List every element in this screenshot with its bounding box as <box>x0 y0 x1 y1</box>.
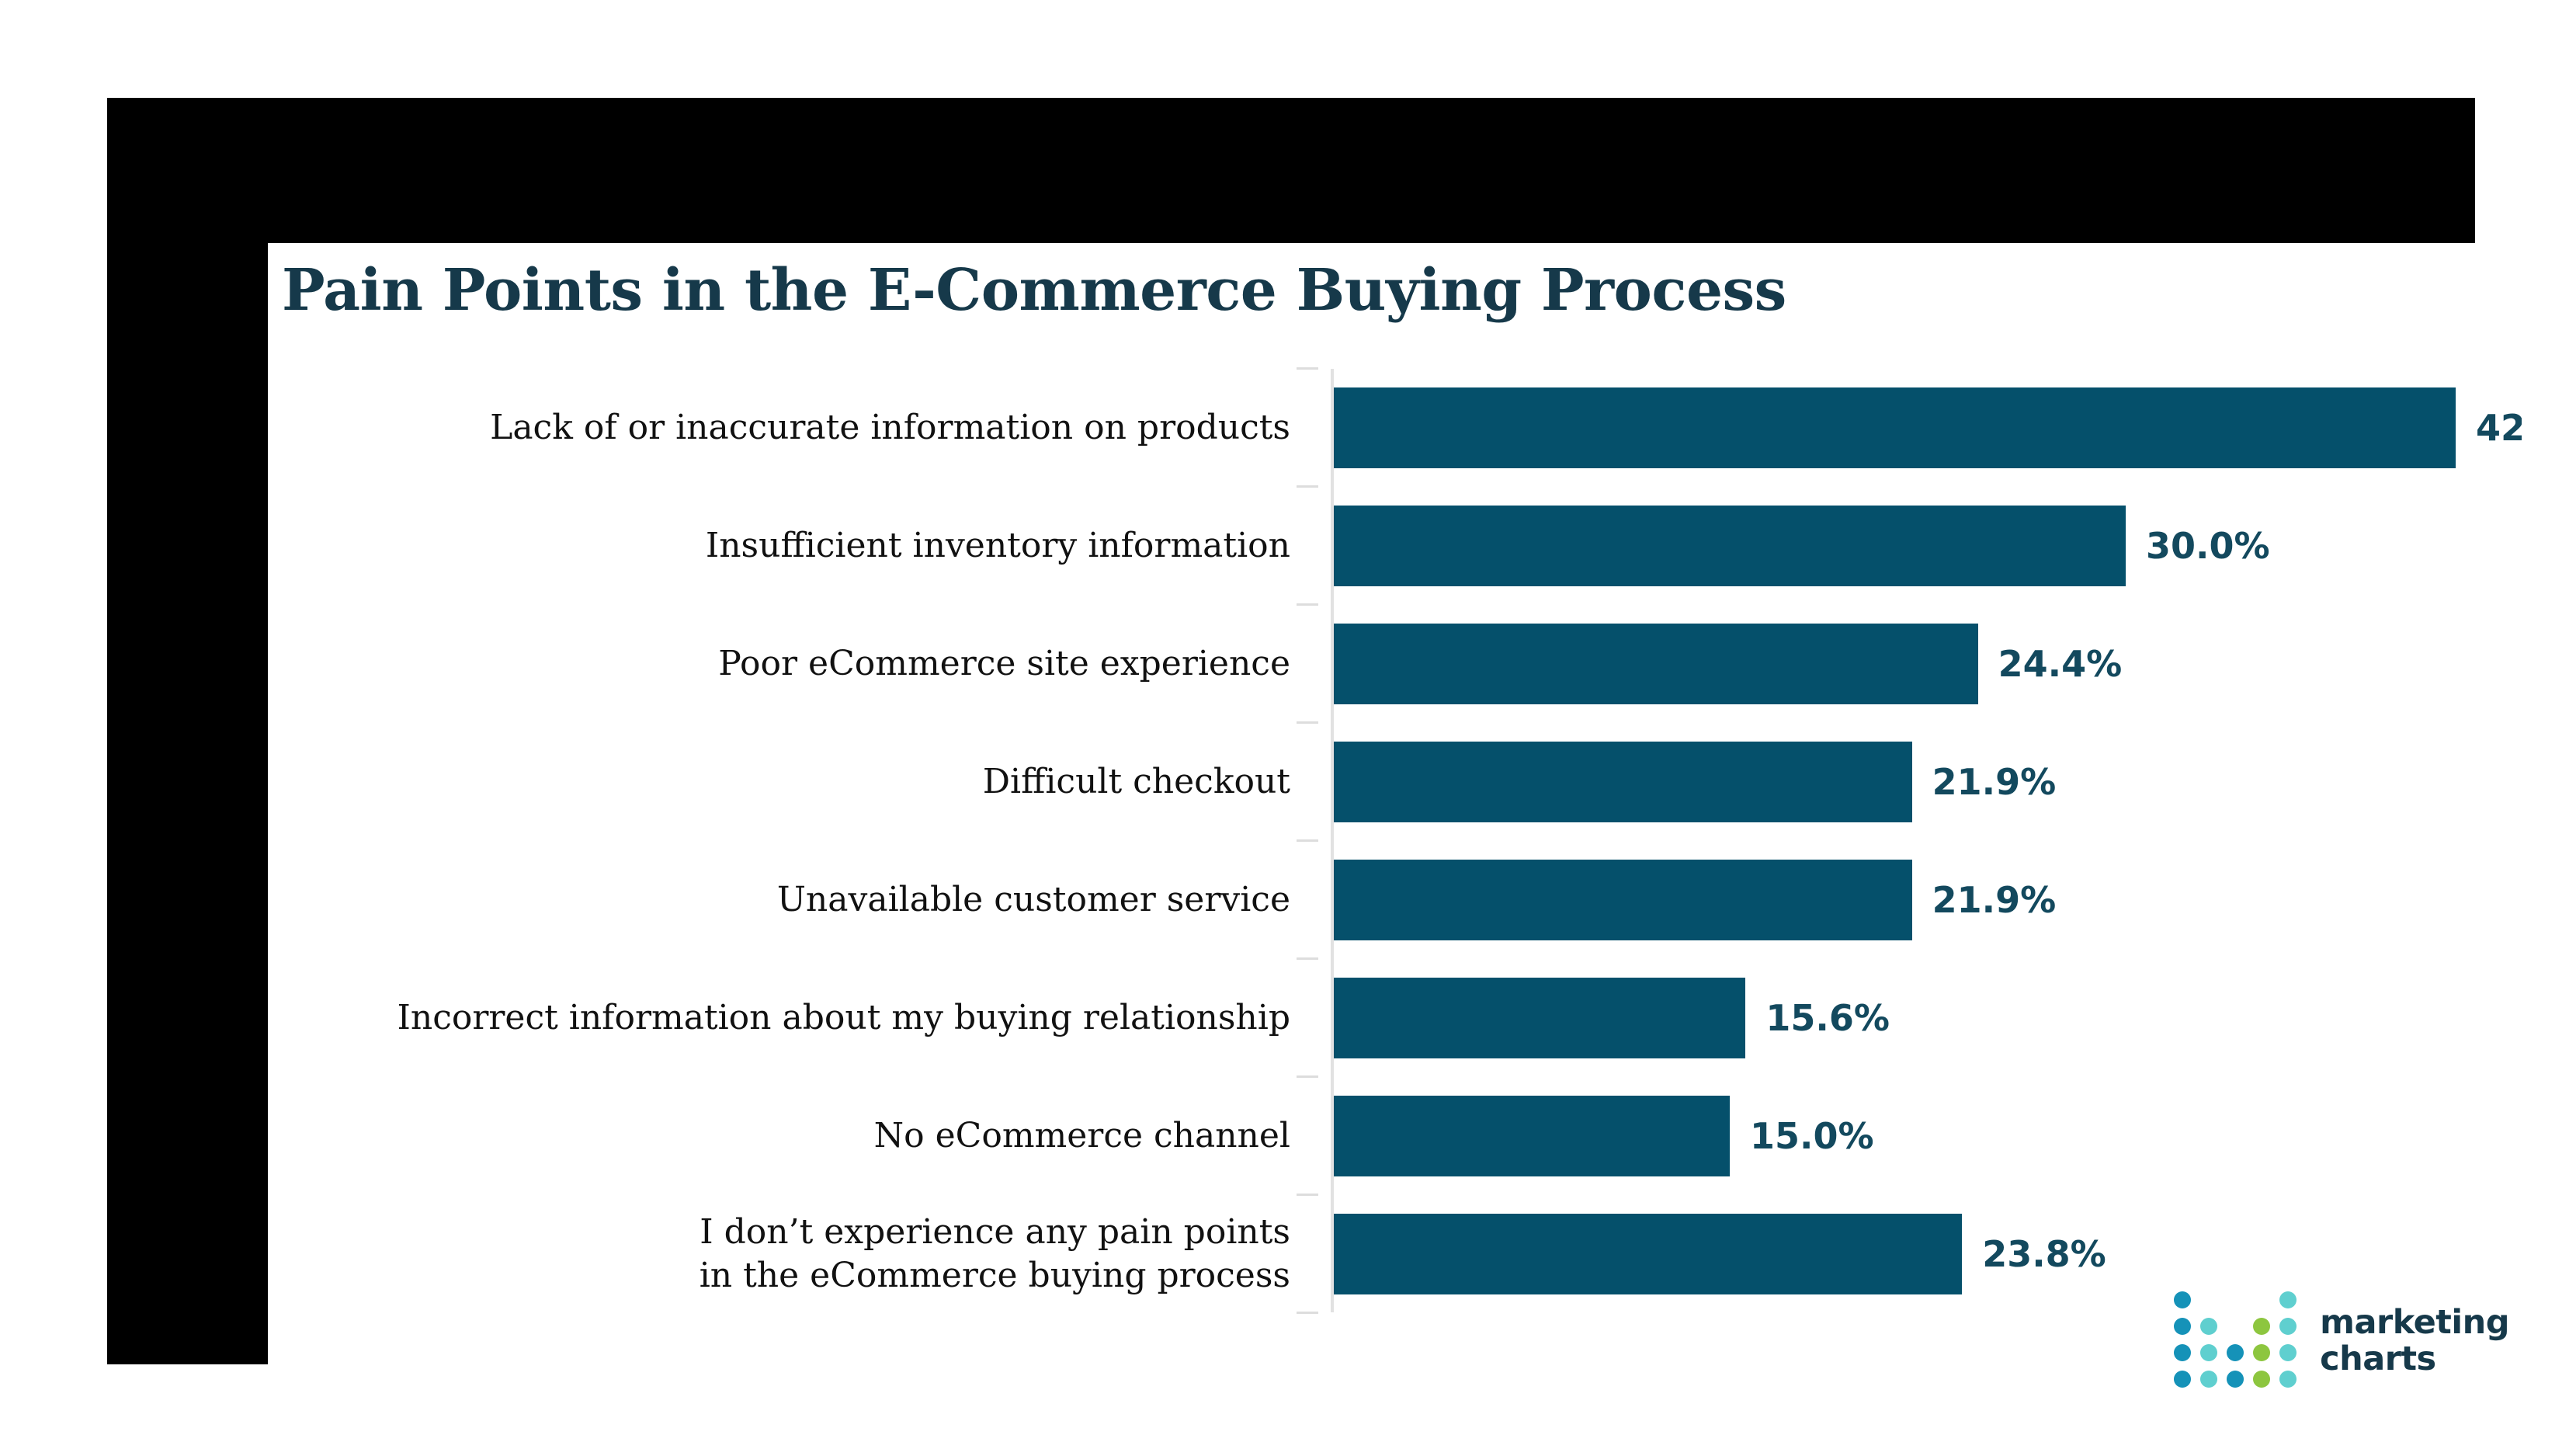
bar-and-value: 21.9% <box>1334 723 2056 841</box>
bar-value-label: 42.5% <box>2476 407 2522 449</box>
bar-category-label: Lack of or inaccurate information on pro… <box>268 406 1312 450</box>
logo-dot-icon <box>2279 1318 2297 1335</box>
bar[interactable] <box>1334 624 1978 704</box>
bar-row: Insufficient inventory information30.0% <box>268 487 2522 605</box>
title-block: Pain Points in the E-Commerce Buying Pro… <box>282 257 2378 349</box>
logo-dot-icon <box>2200 1318 2217 1335</box>
bar-and-value: 42.5% <box>1334 369 2522 487</box>
chart-subtitle <box>282 314 2378 322</box>
chart-outer-frame: Pain Points in the E-Commerce Buying Pro… <box>107 98 2475 1364</box>
bar-value-label: 21.9% <box>1932 879 2057 921</box>
logo-dot-icon <box>2279 1291 2297 1308</box>
bar-category-label: I don’t experience any pain points in th… <box>268 1211 1312 1298</box>
logo-dot-icon <box>2174 1291 2191 1308</box>
bar[interactable] <box>1334 506 2126 586</box>
logo-dot-icon <box>2200 1371 2217 1388</box>
bar-category-label: Insufficient inventory information <box>268 524 1312 568</box>
bar-value-label: 23.8% <box>1982 1233 2106 1275</box>
logo-dot-icon <box>2227 1344 2244 1361</box>
bar[interactable] <box>1334 387 2456 468</box>
logo-line-1: marketing <box>2320 1305 2509 1341</box>
logo-dot-icon <box>2200 1344 2217 1361</box>
logo-dot-icon <box>2174 1371 2191 1388</box>
bar-and-value: 30.0% <box>1334 487 2270 605</box>
bar-row: Unavailable customer service21.9% <box>268 841 2522 959</box>
logo-dot-icon <box>2253 1344 2270 1361</box>
bar-and-value: 15.6% <box>1334 959 1890 1077</box>
marketingcharts-logo: marketing charts <box>2174 1291 2509 1391</box>
bar-and-value: 23.8% <box>1334 1195 2106 1313</box>
bar-category-label: Poor eCommerce site experience <box>268 642 1312 686</box>
logo-dot-empty <box>2253 1291 2270 1308</box>
bar-category-label: Difficult checkout <box>268 760 1312 804</box>
bar-value-label: 15.0% <box>1750 1115 1874 1157</box>
bar-row: Difficult checkout21.9% <box>268 723 2522 841</box>
logo-dot-empty <box>2227 1318 2244 1335</box>
bar-row: Lack of or inaccurate information on pro… <box>268 369 2522 487</box>
bar-and-value: 24.4% <box>1334 605 2122 723</box>
bar-row: No eCommerce channel15.0% <box>268 1077 2522 1195</box>
logo-dot-grid <box>2174 1291 2300 1391</box>
bar-value-label: 24.4% <box>1998 643 2123 685</box>
logo-dot-icon <box>2174 1344 2191 1361</box>
bar[interactable] <box>1334 742 1912 822</box>
logo-dot-icon <box>2279 1371 2297 1388</box>
logo-dot-icon <box>2253 1371 2270 1388</box>
logo-wordmark: marketing charts <box>2320 1305 2509 1378</box>
bar-category-label: Incorrect information about my buying re… <box>268 996 1312 1040</box>
logo-dot-empty <box>2200 1291 2217 1308</box>
bar-value-label: 21.9% <box>1932 761 2057 803</box>
logo-line-2: charts <box>2320 1341 2509 1378</box>
logo-dot-icon <box>2279 1344 2297 1361</box>
bar-value-label: 15.6% <box>1765 997 1890 1039</box>
axis-tick <box>1297 1312 1318 1314</box>
logo-dot-empty <box>2227 1291 2244 1308</box>
logo-dot-icon <box>2253 1318 2270 1335</box>
bar[interactable] <box>1334 978 1745 1058</box>
bar-category-label: Unavailable customer service <box>268 878 1312 922</box>
bar[interactable] <box>1334 860 1912 940</box>
logo-dot-icon <box>2227 1371 2244 1388</box>
bar-category-label: No eCommerce channel <box>268 1114 1312 1158</box>
chart-card: Pain Points in the E-Commerce Buying Pro… <box>268 243 2522 1400</box>
bar-and-value: 15.0% <box>1334 1077 1874 1195</box>
bar[interactable] <box>1334 1096 1730 1176</box>
bar-value-label: 30.0% <box>2146 525 2270 567</box>
bar-row: Poor eCommerce site experience24.4% <box>268 605 2522 723</box>
bar-row: Incorrect information about my buying re… <box>268 959 2522 1077</box>
logo-dot-icon <box>2174 1318 2191 1335</box>
bar-and-value: 21.9% <box>1334 841 2056 959</box>
bar-chart-plot-area: Lack of or inaccurate information on pro… <box>268 369 2522 1336</box>
bar[interactable] <box>1334 1214 1962 1294</box>
